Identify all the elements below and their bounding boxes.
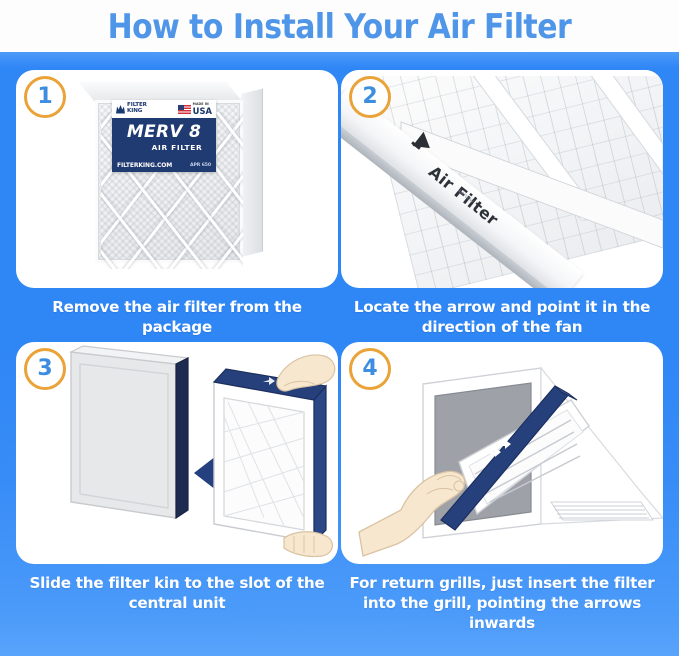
- step-1-number: 1: [37, 86, 52, 108]
- ceiling-grill-panel: [551, 502, 653, 520]
- step-2-card: Air Filter AIRFLOW 2: [341, 70, 663, 288]
- step-2: Air Filter AIRFLOW 2 Locate the arrow an…: [341, 70, 663, 337]
- filter-media-area: [224, 398, 304, 530]
- label-bottom-row: FILTERKING.COM APR 650: [112, 158, 216, 172]
- filter-king-logo: FILTER KING: [116, 103, 147, 115]
- step-4: 4 For return grills, just insert the fil…: [341, 342, 663, 633]
- usa-text: USA: [193, 107, 212, 116]
- label-top-row: FILTER KING MADE IN USA: [112, 100, 216, 118]
- step-2-number: 2: [362, 86, 377, 108]
- usa-flag-icon: [178, 105, 191, 114]
- page-title: How to Install Your Air Filter: [108, 10, 572, 44]
- product-label: FILTER KING MADE IN USA: [112, 100, 216, 172]
- step-1-caption: Remove the air filter from the package: [16, 297, 338, 337]
- step-1: FILTER KING MADE IN USA: [16, 70, 338, 337]
- step-3-number: 3: [37, 358, 52, 380]
- step-3-card: 3: [16, 342, 338, 564]
- step-4-number: 4: [362, 358, 377, 380]
- step-1-card: FILTER KING MADE IN USA: [16, 70, 338, 288]
- filter-top-edge: [78, 82, 243, 102]
- step-3-badge: 3: [24, 348, 66, 390]
- step-2-badge: 2: [349, 76, 391, 118]
- step-3-caption: Slide the filter kin to the slot of the …: [16, 573, 338, 613]
- step-4-badge: 4: [349, 348, 391, 390]
- crown-icon: [116, 105, 125, 114]
- step-4-card: 4: [341, 342, 663, 564]
- merv-rating: MERV 8: [127, 124, 201, 141]
- website-text: FILTERKING.COM: [117, 162, 172, 169]
- filter-side-frame: [314, 386, 326, 542]
- label-main-panel: MERV 8 AIR FILTER: [112, 118, 216, 158]
- step-1-badge: 1: [24, 76, 66, 118]
- header-bar: How to Install Your Air Filter: [0, 0, 679, 52]
- steps-grid: FILTER KING MADE IN USA: [0, 52, 679, 656]
- hand-bottom: [284, 532, 332, 557]
- thumb: [454, 481, 464, 491]
- central-unit-face: [71, 352, 176, 518]
- apr-rating: APR 650: [190, 163, 211, 168]
- air-filter-subtitle: AIR FILTER: [152, 143, 203, 153]
- brand-line-2: KING: [127, 109, 147, 115]
- made-in-usa-mark: MADE IN USA: [178, 103, 212, 115]
- step-2-caption: Locate the arrow and point it in the dir…: [341, 297, 663, 337]
- filter-side-edge: [241, 89, 263, 257]
- central-unit-slot: [176, 358, 188, 518]
- step-3: 3 Slide the filter kin to the slot of th…: [16, 342, 338, 613]
- infographic-root: How to Install Your Air Filter: [0, 0, 679, 656]
- step-4-caption: For return grills, just insert the filte…: [341, 573, 663, 633]
